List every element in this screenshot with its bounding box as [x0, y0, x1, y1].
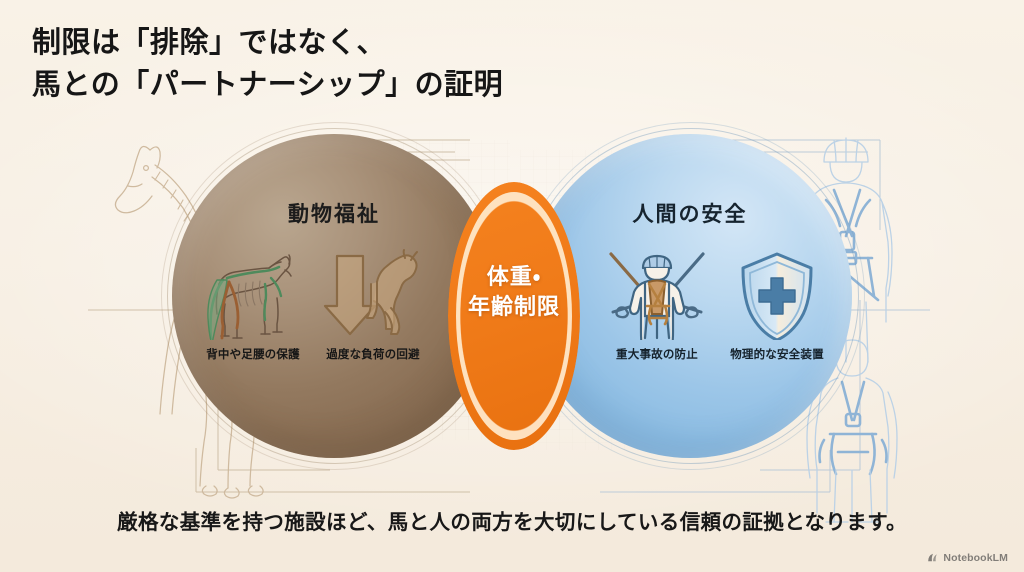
- notebooklm-icon: [926, 551, 939, 564]
- horse-anatomy-icon: [196, 246, 310, 342]
- animal-welfare-item-1[interactable]: 背中や足腰の保護: [196, 246, 310, 362]
- venn-label-animal-welfare: 動物福祉: [172, 198, 496, 228]
- slide-caption: 厳格な基準を持つ施設ほど、馬と人の両方を大切にしている信頼の証拠となります。: [0, 505, 1024, 535]
- venn-intersection-label: 体重・ 年齢制限: [448, 262, 580, 323]
- animal-welfare-caption-1: 背中や足腰の保護: [196, 346, 310, 362]
- horse-load-reduction-icon: [316, 246, 430, 342]
- human-safety-item-1[interactable]: 重大事故の防止: [600, 246, 714, 362]
- watermark-label: NotebookLM: [943, 552, 1008, 564]
- human-safety-item-2[interactable]: 物理的な安全装置: [720, 246, 834, 362]
- animal-welfare-icon-group: 背中や足腰の保護 過度な: [196, 246, 430, 362]
- shield-cross-icon: [720, 246, 834, 342]
- harness-person-icon: [600, 246, 714, 342]
- human-safety-caption-2: 物理的な安全装置: [720, 346, 834, 362]
- venn-diagram: 動物福祉 人間の安全: [0, 0, 1024, 572]
- slide-root: 制限は「排除」ではなく、 馬との「パートナーシップ」の証明 動物福祉 人間の安全: [0, 0, 1024, 572]
- human-safety-icon-group: 重大事故の防止: [600, 246, 834, 362]
- venn-label-human-safety: 人間の安全: [528, 198, 852, 228]
- human-safety-caption-1: 重大事故の防止: [600, 346, 714, 362]
- animal-welfare-caption-2: 過度な負荷の回避: [316, 346, 430, 362]
- notebooklm-watermark: NotebookLM: [926, 551, 1008, 564]
- animal-welfare-item-2[interactable]: 過度な負荷の回避: [316, 246, 430, 362]
